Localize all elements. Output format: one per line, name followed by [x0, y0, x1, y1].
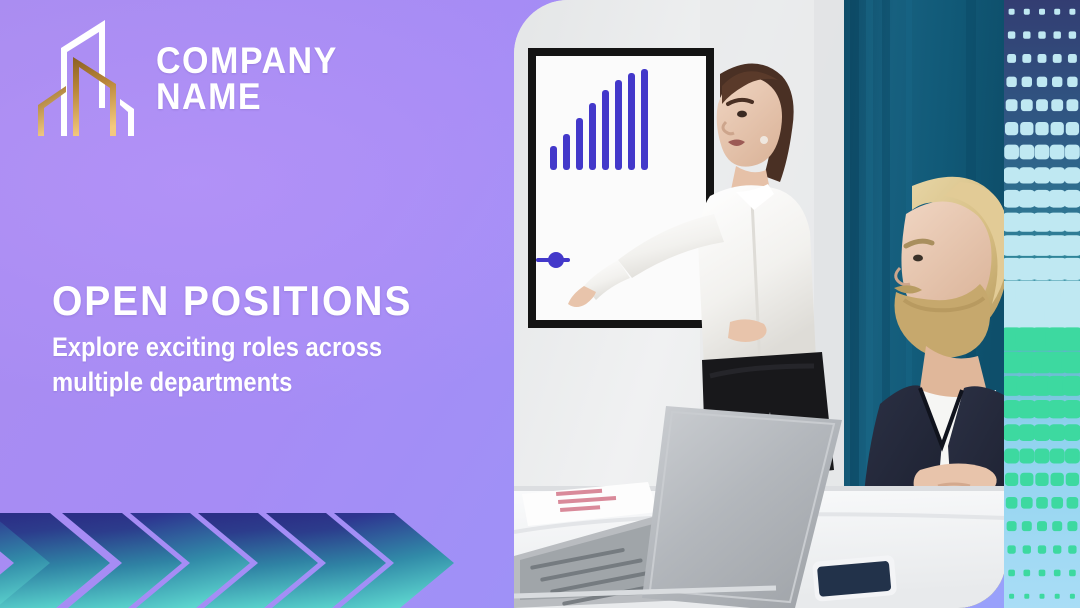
brand-name: COMPANY NAME	[156, 43, 338, 116]
chevron-ribbon	[0, 483, 462, 608]
slide-canvas: COMPANY NAME OPEN POSITIONS Explore exci…	[0, 0, 1080, 608]
team-meeting-photo	[514, 0, 1006, 608]
headline-block: OPEN POSITIONS Explore exciting roles ac…	[52, 280, 504, 400]
page-subtitle: Explore exciting roles across multiple d…	[52, 330, 450, 400]
smartphone	[812, 555, 897, 602]
building-skyline-logo-icon	[20, 12, 144, 146]
brand-lockup: COMPANY NAME	[20, 12, 354, 146]
presentation-board	[528, 48, 714, 328]
chevron-group	[0, 513, 454, 608]
halftone-dot-band	[1004, 0, 1080, 608]
page-title: OPEN POSITIONS	[52, 280, 472, 322]
